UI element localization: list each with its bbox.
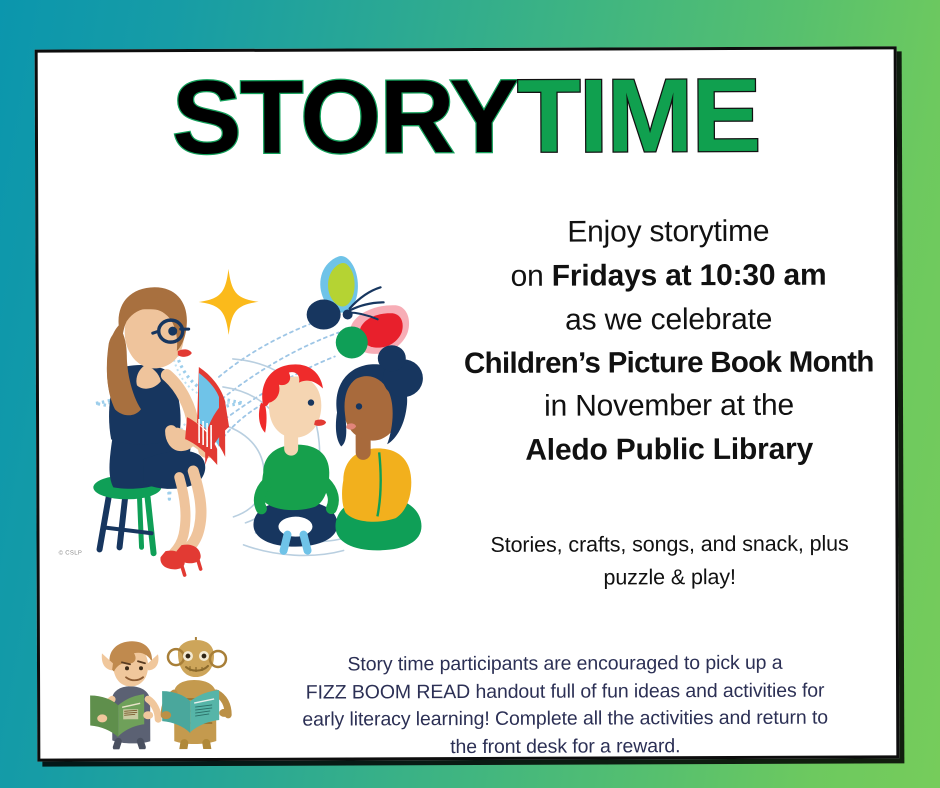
copy-line-2-prefix: on bbox=[511, 259, 552, 292]
activities-block: Stories, crafts, songs, and snack, plus … bbox=[434, 527, 899, 594]
handout-instructions-block: Story time participants are encouraged t… bbox=[240, 649, 890, 761]
event-details-block: Enjoy storytime on Fridays at 10:30 am a… bbox=[438, 209, 899, 473]
page-title: STORYTIME bbox=[38, 63, 894, 170]
sub-copy-line-2: puzzle & play! bbox=[435, 560, 900, 594]
elf-and-robot-illustration bbox=[82, 637, 247, 750]
poster-canvas: STORYTIME bbox=[0, 0, 940, 788]
butterfly-icon bbox=[306, 256, 409, 359]
copy-line-2: on Fridays at 10:30 am bbox=[438, 253, 898, 299]
girl-listener-figure bbox=[335, 345, 424, 550]
boy-listener-figure bbox=[253, 364, 338, 551]
yellow-sparkle-icon bbox=[198, 269, 258, 335]
sub-copy-line-1: Stories, crafts, songs, and snack, plus bbox=[434, 527, 899, 561]
elf-boy-figure bbox=[90, 641, 159, 747]
copy-line-5: in November at the bbox=[439, 384, 899, 430]
title-part-story: STORY bbox=[172, 59, 517, 176]
copy-line-3: as we celebrate bbox=[439, 297, 899, 343]
cslp-copyright-credit: © CSLP bbox=[59, 550, 83, 556]
footer-line-2: FIZZ BOOM READ handout full of fun ideas… bbox=[240, 677, 890, 707]
copy-line-1: Enjoy storytime bbox=[438, 209, 898, 255]
copy-line-2-bold: Fridays at 10:30 am bbox=[552, 258, 827, 292]
robot-figure bbox=[161, 637, 229, 749]
copy-line-4: Children’s Picture Book Month bbox=[439, 341, 899, 386]
copy-line-6-library-name: Aledo Public Library bbox=[439, 428, 899, 474]
storytime-illustration bbox=[46, 246, 447, 578]
footer-line-1: Story time participants are encouraged t… bbox=[240, 649, 890, 679]
footer-line-4: the front desk for a reward. bbox=[240, 732, 890, 761]
footer-line-3: early literacy learning! Complete all th… bbox=[240, 705, 890, 735]
title-part-time: TIME bbox=[517, 58, 760, 175]
poster-card: STORYTIME bbox=[35, 46, 900, 761]
